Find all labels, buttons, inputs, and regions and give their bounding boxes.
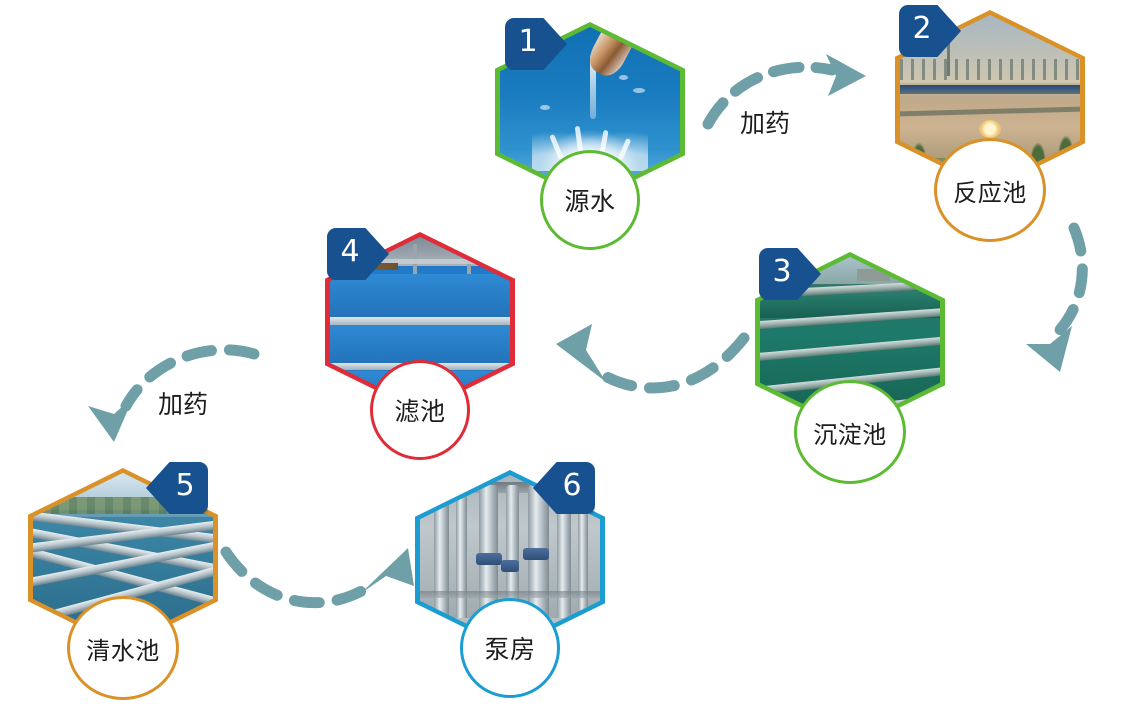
arrow-label-dosing-2: 加药 [158,385,208,421]
node-sedimentation-basin[interactable]: 3 沉淀池 [755,252,945,484]
arrow-reaction-to-sedimentation [1010,222,1120,382]
node-label-pump-house: 泵房 [460,598,560,698]
node-clear-water-basin[interactable]: 5 清水池 [28,468,218,700]
node-label-source-water: 源水 [540,150,640,250]
node-pump-house[interactable]: 6 泵房 [415,470,605,702]
node-reaction-basin[interactable]: 2 反应池 [895,10,1085,242]
node-label-sedimentation-basin: 沉淀池 [794,380,906,484]
arrow-clearwater-to-pump [218,534,418,624]
arrow-sedimentation-to-filter [548,318,758,408]
node-source-water[interactable]: 1 源水 [495,22,685,254]
node-label-clear-water-basin: 清水池 [67,596,179,700]
process-flow-diagram: 加药 加药 [0,0,1130,714]
node-label-reaction-basin: 反应池 [934,138,1046,242]
arrow-label-dosing-1: 加药 [740,104,790,140]
node-filter-basin[interactable]: 4 滤池 [325,232,515,464]
node-label-filter-basin: 滤池 [370,360,470,460]
